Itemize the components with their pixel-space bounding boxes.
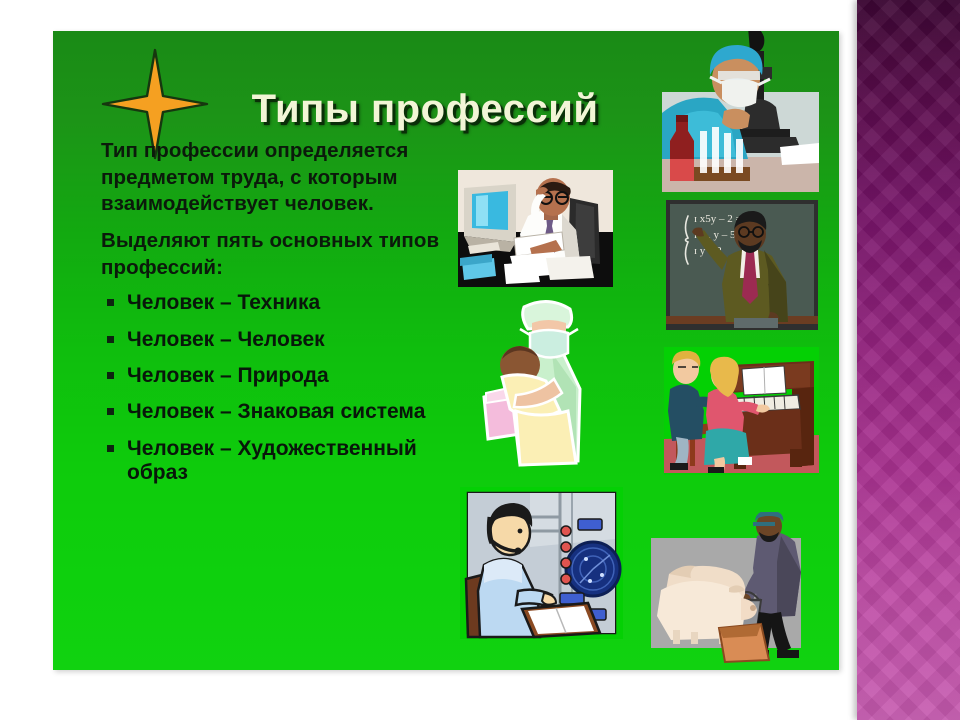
list-item-label: Человек – Знаковая система xyxy=(127,400,425,423)
operator-at-control-panel-image xyxy=(460,487,623,639)
list-item-label: Человек – Природа xyxy=(127,364,329,387)
square-bullet-icon xyxy=(107,336,114,343)
list-item: Человек – Знаковая система xyxy=(101,400,456,424)
list-item-label: Человек – Человек xyxy=(127,328,325,351)
slide-canvas: Типы профессий Тип профессии определяетс… xyxy=(53,31,839,670)
list-item: Человек – Природа xyxy=(101,364,456,388)
content-text-column: Тип профессии определяется предметом тру… xyxy=(101,138,456,497)
piano-lesson-image xyxy=(664,347,819,475)
square-bullet-icon xyxy=(107,408,114,415)
square-bullet-icon xyxy=(107,299,114,306)
list-item: Человек – Техника xyxy=(101,291,456,315)
square-bullet-icon xyxy=(107,372,114,379)
intro-paragraph-2: Выделяют пять основных типов профессий: xyxy=(101,228,456,281)
list-item: Человек – Художественный образ xyxy=(101,437,456,486)
nurse-holding-baby-image xyxy=(476,293,604,473)
page-title: Типы профессий xyxy=(190,88,660,130)
profession-types-list: Человек – Техника Человек – Человек Чело… xyxy=(101,291,456,485)
list-item: Человек – Человек xyxy=(101,328,456,352)
office-worker-at-computer-image xyxy=(458,170,613,287)
list-item-label: Человек – Техника xyxy=(127,291,320,314)
list-item-label: Человек – Художественный образ xyxy=(127,437,417,484)
scientist-at-microscope-image xyxy=(662,31,819,192)
teacher-at-blackboard-image: ɪ x5y – 2 = 2 ɪ x , y – 5 ɪ y – 2 xyxy=(666,200,818,330)
square-bullet-icon xyxy=(107,445,114,452)
intro-paragraph-1: Тип профессии определяется предметом тру… xyxy=(101,138,456,218)
decorative-purple-band xyxy=(857,0,960,720)
farmer-feeding-pigs-image xyxy=(645,512,820,664)
